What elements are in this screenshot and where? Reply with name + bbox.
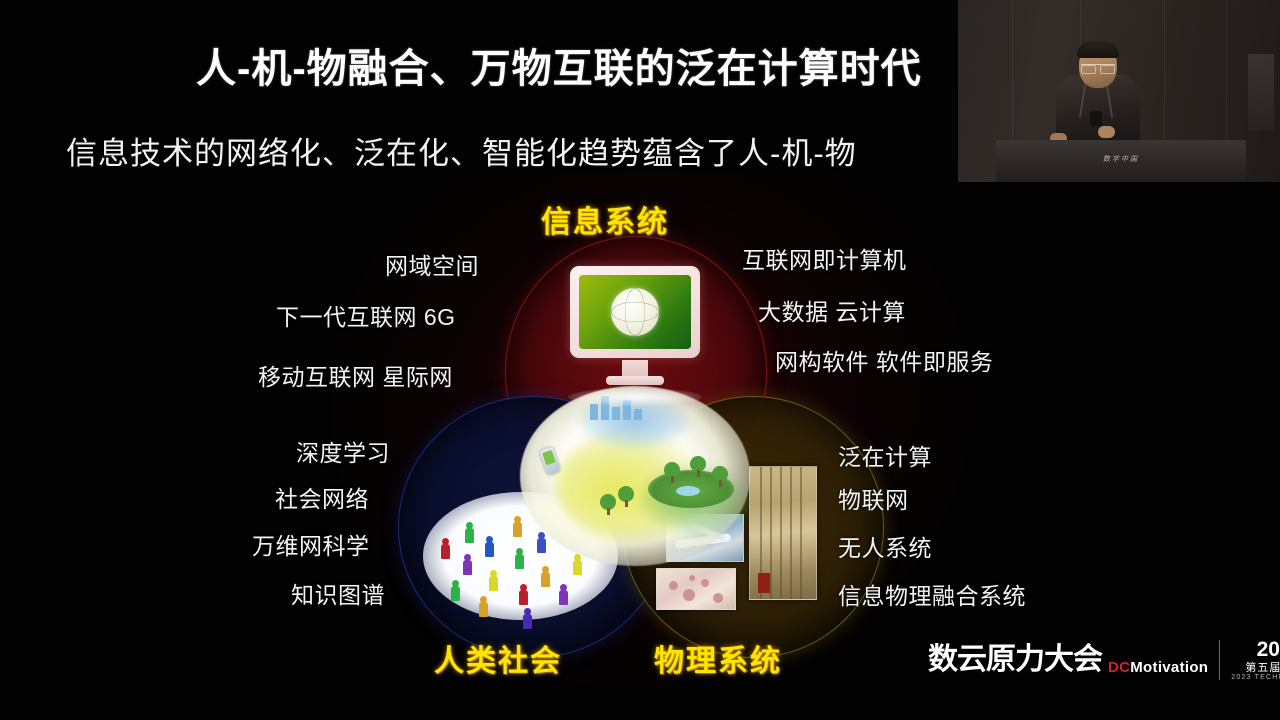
podium-text: 数字中国: [996, 154, 1246, 164]
venn-caption-information-system: 信息系统: [541, 197, 669, 241]
stage-screen-edge: [1248, 54, 1274, 130]
keyword-label: 网构软件 软件即服务: [775, 343, 993, 377]
micrograph-photo-icon: [656, 568, 736, 610]
logo-motivation-text: Motivation: [1130, 659, 1208, 676]
tree-icon: [712, 466, 728, 487]
venn-caption-physical-system: 物理系统: [654, 636, 782, 680]
keyword-label: 知识图谱: [291, 576, 385, 610]
logo-summit-chinese: 第五届数字中国技术年会: [1231, 662, 1280, 675]
logo-dc-text: DC: [1108, 659, 1130, 676]
logo-divider: [1219, 640, 1220, 680]
venn-caption-human-society: 人类社会: [434, 636, 562, 680]
keyword-label: 万维网科学: [252, 527, 370, 561]
logo-chinese-name: 数云原力大会: [928, 645, 1102, 675]
monitor-shadow: [568, 388, 702, 406]
keyword-label: 深度学习: [296, 434, 390, 468]
speaker-figure: [1050, 36, 1146, 146]
tree-icon: [690, 456, 706, 477]
badge-icon: [1090, 111, 1102, 126]
monitor-globe-icon: [570, 266, 700, 384]
keyword-label: 无人系统: [838, 529, 932, 563]
pond-icon: [676, 486, 700, 496]
keyword-label: 网域空间: [385, 247, 479, 281]
keyword-label: 泛在计算: [838, 438, 932, 472]
conference-logo: 数云原力大会 DCMotivation 2023 TECH 第五届数字中国技术年…: [928, 632, 1280, 688]
keyword-label: 互联网即计算机: [742, 241, 907, 275]
keyword-label: 社会网络: [275, 480, 369, 514]
logo-summit-english: 2023 TECHNOLOGY ANNUAL SUMMIT: [1231, 674, 1280, 682]
keyword-label: 物联网: [838, 481, 909, 515]
glasses-icon: [1081, 64, 1115, 72]
skyscraper-photo-icon: [749, 466, 817, 600]
tree-icon: [600, 494, 616, 515]
podium: 数字中国: [996, 140, 1246, 182]
logo-latin-name: DCMotivation: [1108, 660, 1208, 675]
slide-title: 人-机-物融合、万物互联的泛在计算时代: [196, 36, 922, 94]
logo-year-text: 2023 TECH: [1231, 638, 1280, 662]
keyword-label: 移动互联网 星际网: [258, 358, 453, 392]
tree-icon: [618, 486, 634, 507]
tree-icon: [664, 462, 680, 483]
slide-subtitle: 信息技术的网络化、泛在化、智能化趋势蕴含了人-机-物: [66, 128, 857, 173]
keyword-label: 信息物理融合系统: [838, 577, 1026, 611]
keyword-label: 大数据 云计算: [758, 293, 906, 327]
keyword-label: 下一代互联网 6G: [276, 298, 456, 332]
speaker-video-overlay[interactable]: 数字中国: [957, 0, 1280, 183]
